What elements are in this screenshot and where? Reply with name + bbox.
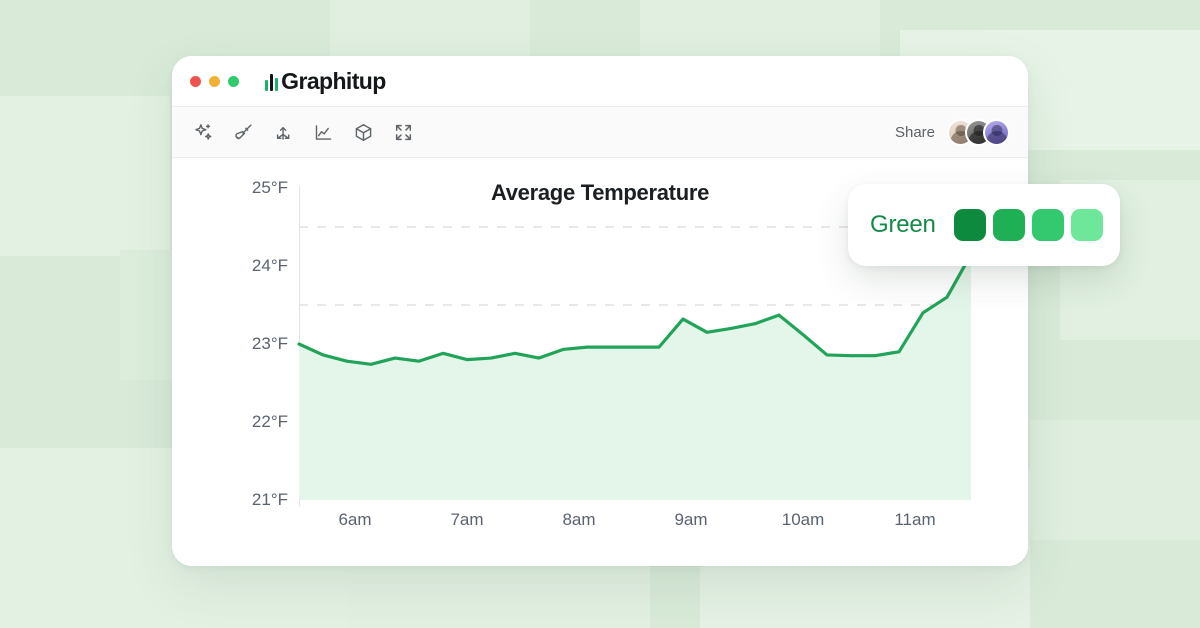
palette-name: Green (870, 211, 936, 239)
collaborator-avatars (947, 119, 1010, 146)
share-button[interactable]: Share (895, 124, 935, 141)
toolbar: Share (172, 106, 1028, 158)
y-axis-tick-label: 24°F (252, 256, 288, 276)
x-axis-tick-label: 11am (894, 510, 935, 530)
window-titlebar: Graphitup (172, 56, 1028, 106)
sparkles-icon[interactable] (190, 119, 216, 145)
paintbrush-icon[interactable] (230, 119, 256, 145)
y-axis-tick-labels: 25°F24°F23°F22°F21°F (222, 188, 288, 500)
tool-group (190, 119, 416, 145)
line-chart-icon[interactable] (310, 119, 336, 145)
area-fill (299, 254, 971, 500)
minimize-window-button[interactable] (209, 76, 220, 87)
toolbar-right-group: Share (895, 119, 1010, 146)
y-axis-tick-label: 25°F (252, 178, 288, 198)
x-axis-tick-label: 10am (782, 510, 825, 530)
window-controls (190, 76, 239, 87)
app-name: Graphitup (281, 70, 385, 93)
x-axis-tick-label: 8am (562, 510, 595, 530)
axes-icon[interactable] (270, 119, 296, 145)
avatar[interactable] (983, 119, 1010, 146)
palette-swatches (954, 209, 1103, 241)
screenshot-canvas: Graphitup (0, 0, 1200, 628)
series-line (299, 254, 971, 364)
palette-swatch-1[interactable] (954, 209, 986, 241)
app-window: Graphitup (172, 56, 1028, 566)
x-axis-tick-label: 6am (338, 510, 371, 530)
x-axis-tick-label: 7am (450, 510, 483, 530)
palette-swatch-2[interactable] (993, 209, 1025, 241)
palette-swatch-3[interactable] (1032, 209, 1064, 241)
bar-chart-logo-icon (265, 75, 278, 93)
y-axis-tick-label: 23°F (252, 334, 288, 354)
palette-swatch-4[interactable] (1071, 209, 1103, 241)
app-logo: Graphitup (265, 70, 386, 93)
y-axis-tick-label: 21°F (252, 490, 288, 510)
maximize-window-button[interactable] (228, 76, 239, 87)
cube-icon[interactable] (350, 119, 376, 145)
color-palette-card[interactable]: Green (848, 184, 1120, 266)
x-axis-tick-label: 9am (674, 510, 707, 530)
expand-icon[interactable] (390, 119, 416, 145)
close-window-button[interactable] (190, 76, 201, 87)
x-axis-tick-labels: 6am7am8am9am10am11am (299, 510, 971, 540)
y-axis-tick-label: 22°F (252, 412, 288, 432)
